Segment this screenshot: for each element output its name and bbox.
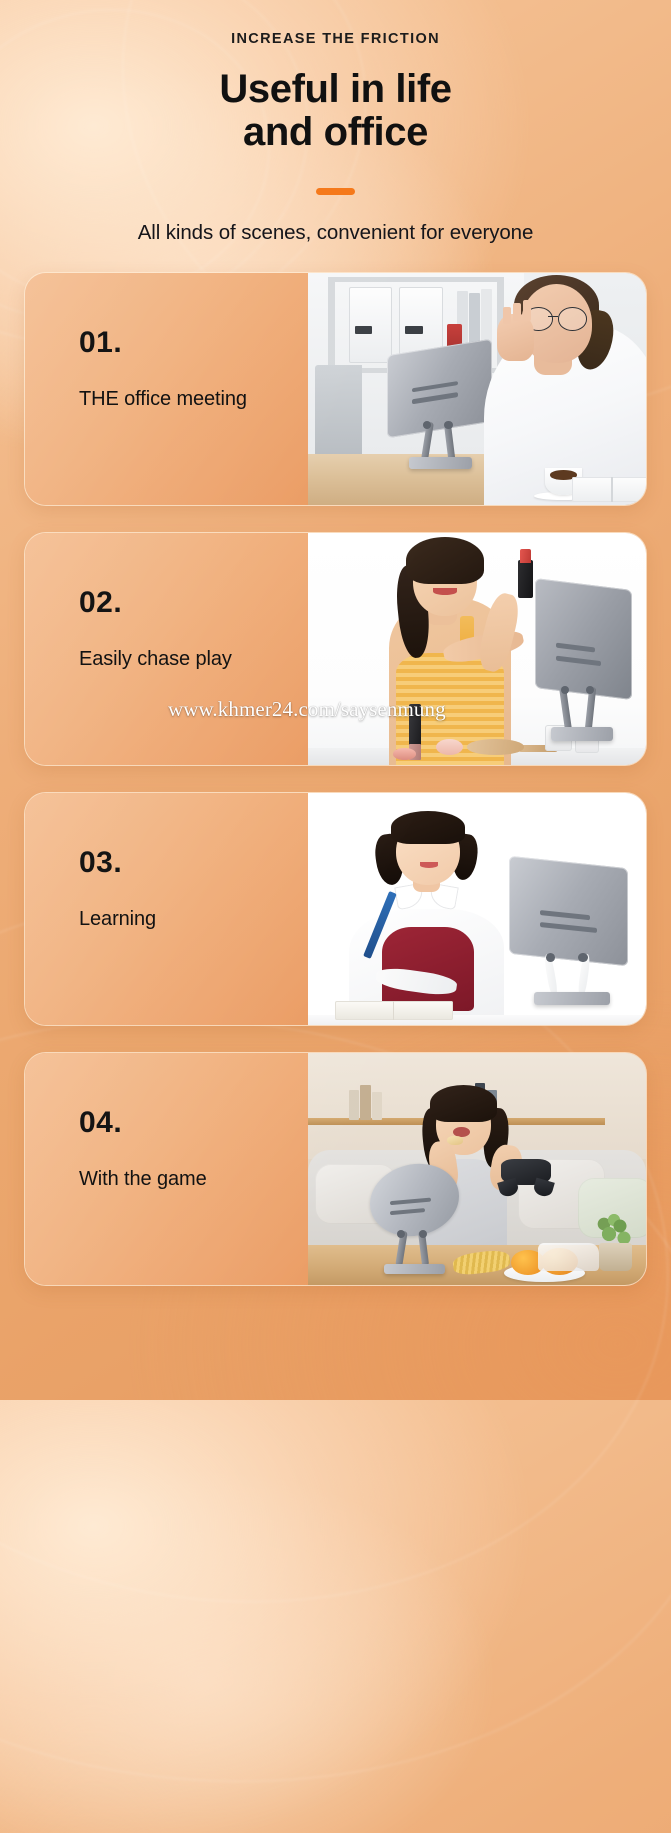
page-title-line-1: Useful in life [219,67,451,111]
divider-dash [316,188,355,195]
eyebrow-text: INCREASE THE FRICTION [0,31,671,47]
card-text-block: 03. Learning [25,793,308,1025]
page-subtitle: All kinds of scenes, convenient for ever… [0,221,671,245]
scene-card-03[interactable]: 03. Learning [25,793,646,1025]
card-number: 03. [79,848,308,878]
scene-card-01[interactable]: 01. THE office meeting [25,273,646,505]
scene-card-02[interactable]: 02. Easily chase play [25,533,646,765]
card-label: With the game [79,1168,308,1191]
page-title-line-2: and office [0,111,671,154]
card-number: 01. [79,328,308,358]
card-label: Easily chase play [79,648,308,671]
card-text-block: 01. THE office meeting [25,273,308,505]
card-photo-office-meeting [308,273,646,505]
card-photo-gaming [308,1053,646,1285]
card-text-block: 04. With the game [25,1053,308,1285]
card-label: Learning [79,908,308,931]
page-header: INCREASE THE FRICTION Useful in life and… [0,0,671,245]
scene-card-04[interactable]: 04. With the game [25,1053,646,1285]
card-label: THE office meeting [79,388,308,411]
card-number: 02. [79,588,308,618]
card-number: 04. [79,1108,308,1138]
scene-card-list: 01. THE office meeting [0,273,671,1285]
card-photo-learning [308,793,646,1025]
page-title: Useful in life and office [0,68,671,154]
card-photo-makeup [308,533,646,765]
card-text-block: 02. Easily chase play [25,533,308,765]
